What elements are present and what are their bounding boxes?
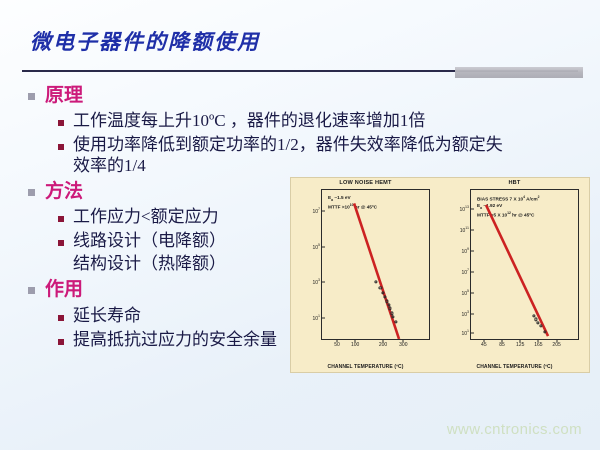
reliability-figure: LOW NOISE HEMT MEAN-TIME-TO-FAILURE (hr)… xyxy=(290,177,590,373)
outline-heading-principle: 原理 xyxy=(0,85,600,107)
list-item-label: 使用功率降低到额定功率的1/2，器件失效率降低为额定失效率的1/4 xyxy=(73,135,503,175)
list-item-label: 结构设计（热降额） xyxy=(73,254,226,274)
list-item: 工作温度每上升10ºC ，器件的退化速率增加1倍 xyxy=(0,111,600,131)
chart-title: HBT xyxy=(440,180,589,186)
title-accent-bar xyxy=(455,67,583,78)
chart-panel-hbt: HBT MEAN-TIME-TO-FAILURE (hr) CHANNEL TE… xyxy=(440,178,589,372)
outline-heading-label: 原理 xyxy=(45,85,83,107)
chart-y-tick: 107 xyxy=(312,207,320,215)
chart-plot-area: BIAS STRESS 7 X 104 A/cm2 Ea ~1.92 eV MT… xyxy=(470,189,579,340)
chart-y-tick: 105 xyxy=(461,289,469,297)
list-item-label: 工作应力<额定应力 xyxy=(73,207,219,227)
chart-x-tick: 300 xyxy=(399,342,407,348)
square-bullet-icon xyxy=(58,339,64,345)
square-bullet-icon xyxy=(28,93,35,100)
chart-x-tick: 50 xyxy=(334,342,340,348)
outline-heading-label: 作用 xyxy=(45,279,83,301)
list-item-label: 提高抵抗过应力的安全余量 xyxy=(73,330,277,350)
list-item-label: 延长寿命 xyxy=(73,306,141,326)
chart-x-axis-label: CHANNEL TEMPERATURE (ºC) xyxy=(291,364,440,370)
chart-x-tick: 85 xyxy=(499,342,505,348)
chart-y-tick: 107 xyxy=(461,268,469,276)
chart-x-tick: 205 xyxy=(552,342,560,348)
slide: 微电子器件的降额使用 原理 工作温度每上升10ºC ，器件的退化速率增加1倍 使… xyxy=(0,0,600,450)
square-bullet-icon xyxy=(28,287,35,294)
chart-x-tick: 125 xyxy=(516,342,524,348)
chart-y-tick: 101 xyxy=(461,329,469,337)
site-watermark: www.cntronics.com xyxy=(447,421,582,438)
chart-x-axis-label: CHANNEL TEMPERATURE (ºC) xyxy=(440,364,589,370)
chart-title: LOW NOISE HEMT xyxy=(291,180,440,186)
chart-x-tick: 165 xyxy=(534,342,542,348)
chart-y-tick: 103 xyxy=(461,310,469,318)
chart-x-tick: 45 xyxy=(481,342,487,348)
chart-fit-line xyxy=(471,190,578,339)
chart-y-tick: 105 xyxy=(312,243,320,251)
outline-heading-label: 方法 xyxy=(45,181,83,203)
chart-fit-line xyxy=(322,190,429,339)
square-bullet-icon xyxy=(58,240,64,246)
chart-y-tick: 1013 xyxy=(459,206,469,214)
square-bullet-icon xyxy=(28,189,35,196)
chart-x-tick: 200 xyxy=(379,342,387,348)
square-bullet-icon xyxy=(58,216,64,222)
chart-plot-area: Ea ~1.5 eV MTTF >1010 hr @ 45ºC xyxy=(321,189,430,340)
chart-y-tick: 109 xyxy=(461,247,469,255)
chart-panel-low-noise-hemt: LOW NOISE HEMT MEAN-TIME-TO-FAILURE (hr)… xyxy=(291,178,440,372)
square-bullet-icon xyxy=(58,315,64,321)
list-item: 使用功率降低到额定功率的1/2，器件失效率降低为额定失效率的1/4 xyxy=(0,135,600,175)
chart-y-tick: 103 xyxy=(312,279,320,287)
chart-y-tick: 1011 xyxy=(460,226,469,234)
page-title: 微电子器件的降额使用 xyxy=(30,26,260,56)
chart-x-tick: 100 xyxy=(351,342,359,348)
list-item-label: 线路设计（电降额） xyxy=(73,231,226,251)
chart-y-tick: 101 xyxy=(312,314,320,322)
square-bullet-icon xyxy=(58,120,64,126)
square-bullet-icon xyxy=(58,144,64,150)
list-item-label: 工作温度每上升10ºC ，器件的退化速率增加1倍 xyxy=(73,111,425,131)
